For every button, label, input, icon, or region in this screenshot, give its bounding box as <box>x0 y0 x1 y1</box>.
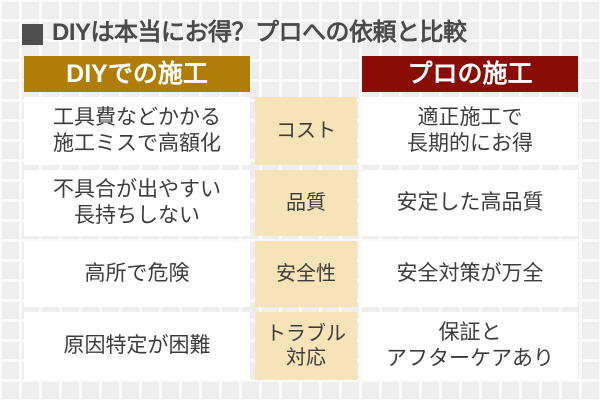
comparison-table: DIYでの施工 プロの施工 工具費などかかる 施工ミスで高額化 コスト 適正施工… <box>24 56 578 380</box>
label-line: 品質 <box>286 191 326 215</box>
cell-diy-trouble: 原因特定が困難 <box>24 312 250 380</box>
cell-line: 不具合が出やすい <box>53 177 221 203</box>
cell-diy-quality: 不具合が出やすい 長持ちしない <box>24 170 250 236</box>
cell-line: 安全対策が万全 <box>397 261 544 287</box>
cell-line: 工具費などかかる <box>53 105 221 131</box>
cell-pro-quality: 安定した高品質 <box>362 170 578 236</box>
cell-line: 長期的にお得 <box>407 131 533 157</box>
cell-line: 保証と <box>386 320 554 346</box>
cell-pro-safety: 安全対策が万全 <box>362 241 578 307</box>
table-row: 不具合が出やすい 長持ちしない 品質 安定した高品質 <box>24 170 578 236</box>
page-title: DIYは本当にお得？プロへの依頼と比較 <box>22 14 582 52</box>
row-label-safety: 安全性 <box>255 241 357 307</box>
cell-line: アフターケアあり <box>386 346 554 372</box>
cell-line: 長持ちしない <box>53 203 221 229</box>
bullet-square-icon <box>22 24 43 45</box>
label-line: トラブル <box>266 322 346 346</box>
row-label-quality: 品質 <box>255 170 357 236</box>
column-header-pro: プロの施工 <box>362 56 578 92</box>
table-header-row: DIYでの施工 プロの施工 <box>24 56 578 92</box>
table-row: 原因特定が困難 トラブル 対応 保証と アフターケアあり <box>24 312 578 380</box>
cell-line: 高所で危険 <box>85 261 190 287</box>
cell-pro-cost: 適正施工で 長期的にお得 <box>362 97 578 165</box>
column-header-center-spacer <box>255 56 357 92</box>
cell-line: 適正施工で <box>407 105 533 131</box>
cell-pro-trouble: 保証と アフターケアあり <box>362 312 578 380</box>
row-label-cost: コスト <box>255 97 357 165</box>
column-header-diy: DIYでの施工 <box>24 56 250 92</box>
table-row: 高所で危険 安全性 安全対策が万全 <box>24 241 578 307</box>
cell-diy-safety: 高所で危険 <box>24 241 250 307</box>
table-row: 工具費などかかる 施工ミスで高額化 コスト 適正施工で 長期的にお得 <box>24 97 578 165</box>
cell-diy-cost: 工具費などかかる 施工ミスで高額化 <box>24 97 250 165</box>
cell-line: 安定した高品質 <box>397 190 544 216</box>
cell-line: 原因特定が困難 <box>64 333 211 359</box>
label-line: コスト <box>276 119 336 143</box>
cell-line: 施工ミスで高額化 <box>53 131 221 157</box>
page-title-text: DIYは本当にお得？プロへの依頼と比較 <box>52 21 467 45</box>
comparison-infographic: DIYは本当にお得？プロへの依頼と比較 DIYでの施工 プロの施工 工具費などか… <box>0 0 600 400</box>
label-line: 対応 <box>266 346 346 370</box>
label-line: 安全性 <box>276 262 336 286</box>
row-label-trouble: トラブル 対応 <box>255 312 357 380</box>
